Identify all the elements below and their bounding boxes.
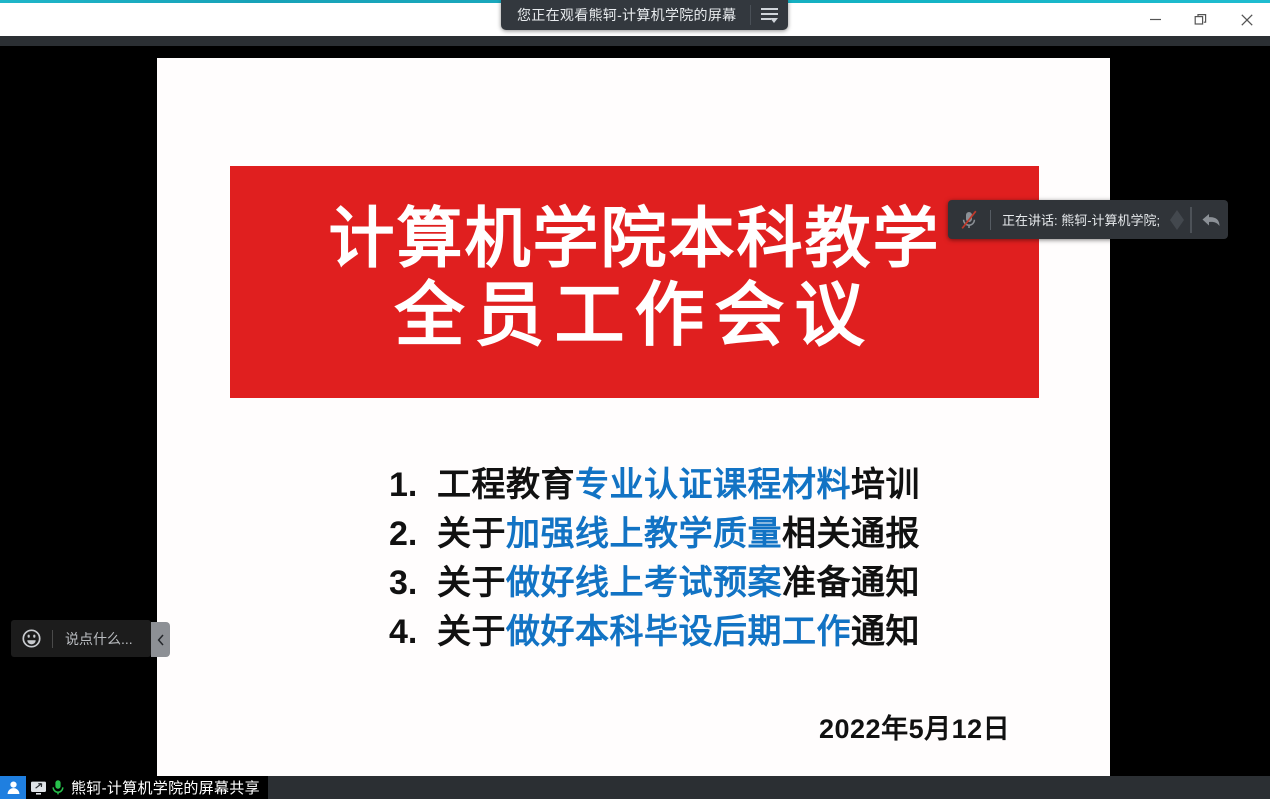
person-icon — [6, 780, 21, 795]
slide-date: 2022年5月12日 — [819, 707, 1010, 746]
microphone-indicator[interactable] — [51, 779, 65, 796]
agenda-text-highlight: 加强线上教学质量 — [506, 515, 782, 553]
speaker-return-button[interactable] — [1194, 210, 1228, 230]
restore-button[interactable] — [1178, 3, 1224, 36]
restore-icon — [1194, 13, 1208, 27]
list-item: 3. 关于做好线上考试预案准备通知 — [389, 566, 1089, 600]
slide-title-line2: 全员工作会议 — [395, 276, 875, 354]
chat-input-bar[interactable]: 说点什么... — [11, 620, 151, 657]
screen-share-icon — [30, 780, 47, 796]
meeting-window: 您正在观看熊轲-计算机学院的屏幕 计算机学院本科教学 全员工作会议 1. 工程教… — [0, 0, 1270, 799]
screen-share-status[interactable]: 熊轲-计算机学院的屏幕共享 — [0, 776, 268, 799]
chevron-left-icon — [157, 634, 165, 646]
share-notice-menu-button[interactable] — [751, 0, 788, 30]
active-speaker-label: 正在讲话: 熊轲-计算机学院; — [991, 210, 1166, 229]
agenda-number: 3. — [389, 566, 437, 600]
chat-collapse-handle[interactable] — [151, 622, 170, 657]
agenda-text-post: 通知 — [851, 613, 920, 651]
hamburger-menu-icon — [761, 8, 778, 22]
list-item: 2. 关于加强线上教学质量相关通报 — [389, 517, 1089, 551]
minimize-icon — [1149, 13, 1162, 26]
agenda-text-pre: 工程教育 — [437, 466, 575, 504]
shared-screen-slide[interactable]: 计算机学院本科教学 全员工作会议 1. 工程教育专业认证课程材料培训 2. 关于… — [157, 58, 1110, 776]
screen-share-label: 熊轲-计算机学院的屏幕共享 — [71, 777, 260, 798]
agenda-number: 4. — [389, 615, 437, 649]
slide-title-banner: 计算机学院本科教学 全员工作会议 — [230, 166, 1039, 398]
speaker-mic-button[interactable] — [948, 209, 990, 231]
close-icon — [1240, 13, 1254, 27]
speaker-collapse-button[interactable] — [1166, 207, 1188, 233]
agenda-text-pre: 关于 — [437, 613, 506, 651]
agenda-number: 1. — [389, 468, 437, 502]
agenda-text-pre: 关于 — [437, 564, 506, 602]
chat-input-placeholder[interactable]: 说点什么... — [53, 629, 151, 649]
agenda-text-pre: 关于 — [437, 515, 506, 553]
agenda-text-highlight: 做好线上考试预案 — [506, 564, 782, 602]
participant-badge[interactable] — [0, 776, 26, 799]
viewport-top-strip — [0, 36, 1270, 46]
agenda-text-post: 培训 — [851, 466, 920, 504]
chevron-collapse-icon — [1169, 207, 1185, 233]
share-notice-bar[interactable]: 您正在观看熊轲-计算机学院的屏幕 — [501, 0, 788, 30]
emoji-smiley-icon — [22, 629, 41, 648]
slide-agenda-list: 1. 工程教育专业认证课程材料培训 2. 关于加强线上教学质量相关通报 3. 关… — [389, 468, 1089, 664]
agenda-number: 2. — [389, 517, 437, 551]
minimize-button[interactable] — [1132, 3, 1178, 36]
agenda-text-post: 相关通报 — [782, 515, 920, 553]
emoji-button[interactable] — [11, 629, 52, 648]
list-item: 1. 工程教育专业认证课程材料培训 — [389, 468, 1089, 502]
screen-share-indicator[interactable] — [30, 780, 47, 796]
window-controls — [1132, 3, 1270, 36]
active-speaker-bar[interactable]: 正在讲话: 熊轲-计算机学院; — [948, 200, 1228, 239]
agenda-text-highlight: 专业认证课程材料 — [575, 466, 851, 504]
close-button[interactable] — [1224, 3, 1270, 36]
agenda-text-highlight: 做好本科毕设后期工作 — [506, 613, 851, 651]
microphone-muted-icon — [959, 209, 979, 231]
return-arrow-icon — [1200, 210, 1222, 230]
agenda-text-post: 准备通知 — [782, 564, 920, 602]
microphone-icon — [51, 779, 65, 796]
list-item: 4. 关于做好本科毕设后期工作通知 — [389, 615, 1089, 649]
share-notice-label: 您正在观看熊轲-计算机学院的屏幕 — [501, 0, 750, 30]
speaker-bar-divider-2 — [1190, 207, 1192, 233]
slide-title-line1: 计算机学院本科教学 — [329, 202, 941, 276]
